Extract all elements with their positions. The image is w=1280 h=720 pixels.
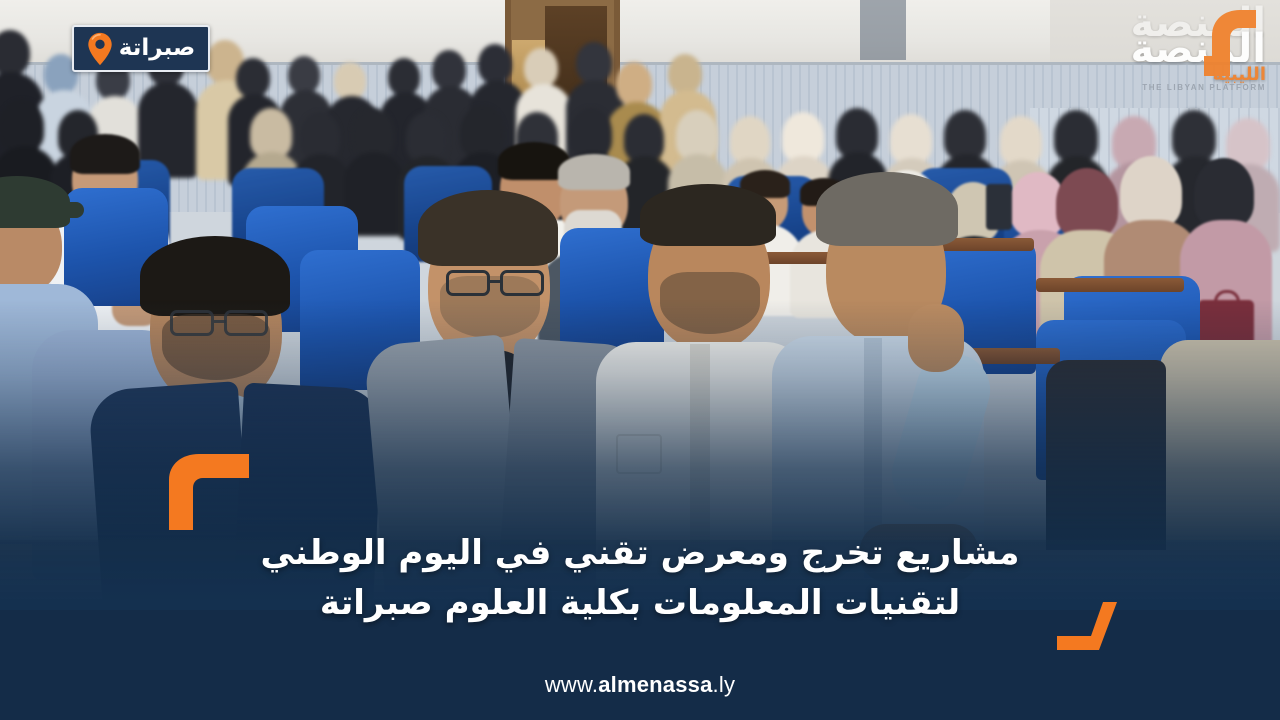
caption-line-1: مشاريع تخرج ومعرض تقني في اليوم الوطني (150, 529, 1130, 578)
location-badge[interactable]: صبراتة (72, 25, 210, 72)
smartphone-right (986, 184, 1012, 230)
site-url[interactable]: www.almenassa.ly (0, 672, 1280, 698)
eyeglasses (446, 270, 490, 296)
wall-panel-notch (860, 0, 906, 60)
url-prefix: www. (545, 672, 598, 697)
caption-block: مشاريع تخرج ومعرض تقني في اليوم الوطني ل… (0, 529, 1280, 628)
news-image-card: صبراتة المنصة المنصة الليبية THE LIBYAN … (0, 0, 1280, 720)
logo-english-name: THE LIBYAN PLATFORM (1031, 83, 1266, 92)
location-label: صبراتة (119, 37, 195, 60)
watermark-logo: المنصة المنصة الليبية THE LIBYAN PLATFOR… (1031, 4, 1266, 102)
caption-line-2: لتقنيات المعلومات بكلية العلوم صبراتة (150, 579, 1130, 628)
quote-bracket-open-icon (165, 452, 253, 530)
logo-hook-icon (1202, 6, 1260, 78)
map-pin-icon (87, 32, 113, 66)
url-name: almenassa (598, 672, 712, 697)
url-suffix: .ly (713, 672, 736, 697)
